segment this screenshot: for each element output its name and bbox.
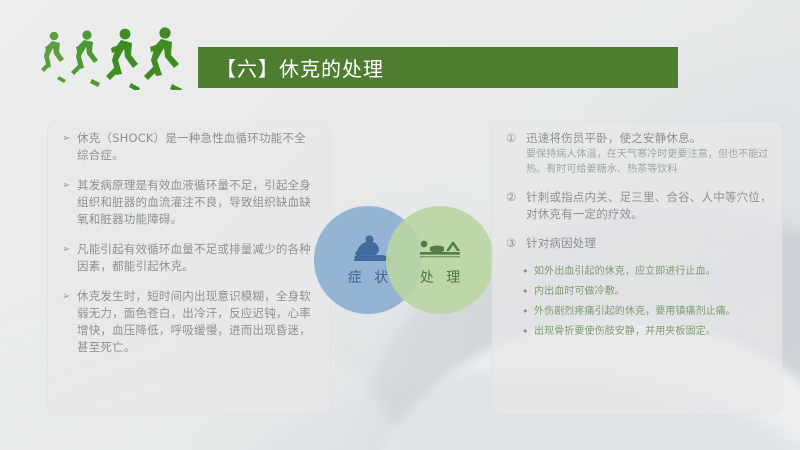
bullet-text: 休克（SHOCK）是一种急性血循环功能不全综合症。 bbox=[77, 130, 316, 164]
step-number: ③ bbox=[506, 235, 526, 252]
treatment-step-list: ① 迅速将伤员平卧，使之安静休息。 要保持病人体温，在天气寒冷时更要注意，但也不… bbox=[502, 130, 774, 339]
crouching-person-icon bbox=[345, 234, 391, 264]
cause-handling-sublist: • 如外出血引起的休克，应立即进行止血。 • 内出血时可做冷敷。 • 外伤剧烈疼… bbox=[502, 264, 774, 339]
sub-bullet-text: 内出血时可做冷敷。 bbox=[534, 284, 774, 299]
step-title: 迅速将伤员平卧，使之安静休息。 bbox=[526, 130, 772, 147]
arrow-bullet-icon: ➢ bbox=[62, 177, 77, 194]
list-item: • 出现骨折要使伤肢安静，并用夹板固定。 bbox=[502, 324, 774, 339]
bullet-text: 凡能引起有效循环血量不足或排量减少的各种因素，都能引起休克。 bbox=[77, 241, 316, 275]
list-item: ➢ 休克（SHOCK）是一种急性血循环功能不全综合症。 bbox=[56, 130, 320, 164]
page-title: 【六】休克的处理 bbox=[198, 53, 384, 82]
step-title: 针刺或指点内关、足三里、合谷、人中等穴位，对休克有一定的疗效。 bbox=[526, 189, 772, 223]
step-body: 迅速将伤员平卧，使之安静休息。 要保持病人体温，在天气寒冷时更要注意，但也不能过… bbox=[526, 130, 772, 177]
sub-bullet-text: 如外出血引起的休克，应立即进行止血。 bbox=[534, 264, 774, 279]
list-item: • 外伤剧烈疼痛引起的休克，要用镇痛剂止痛。 bbox=[502, 304, 774, 319]
sub-bullet-text: 出现骨折要使伤肢安静，并用夹板固定。 bbox=[534, 324, 774, 339]
dot-bullet-icon: • bbox=[522, 284, 534, 299]
list-item: ➢ 休克发生时，短时间内出现意识模糊，全身软弱无力，面色苍白，出冷汗，反应迟钝，… bbox=[56, 288, 320, 356]
dot-bullet-icon: • bbox=[522, 304, 534, 319]
sub-bullet-text: 外伤剧烈疼痛引起的休克，要用镇痛剂止痛。 bbox=[534, 304, 774, 319]
venn-label-treatment: 处 理 bbox=[416, 267, 464, 287]
venn-label-symptoms: 症 状 bbox=[344, 267, 392, 287]
dot-bullet-icon: • bbox=[522, 324, 534, 339]
venn-diagram: 症 状 处 理 bbox=[314, 206, 494, 314]
list-item: ➢ 凡能引起有效循环血量不足或排量减少的各种因素，都能引起休克。 bbox=[56, 241, 320, 275]
list-item: • 如外出血引起的休克，应立即进行止血。 bbox=[502, 264, 774, 279]
step-note: 要保持病人体温，在天气寒冷时更要注意，但也不能过热。有时可给姜糖水、热茶等饮料 bbox=[526, 148, 772, 177]
list-item: ② 针刺或指点内关、足三里、合谷、人中等穴位，对休克有一定的疗效。 bbox=[502, 189, 774, 223]
slide-canvas: 【六】休克的处理 ➢ 休克（SHOCK）是一种急性血循环功能不全综合症。 ➢ 其… bbox=[0, 0, 800, 450]
step-body: 针刺或指点内关、足三里、合谷、人中等穴位，对休克有一定的疗效。 bbox=[526, 189, 772, 223]
list-item: ① 迅速将伤员平卧，使之安静休息。 要保持病人体温，在天气寒冷时更要注意，但也不… bbox=[502, 130, 774, 177]
arrow-bullet-icon: ➢ bbox=[62, 130, 77, 147]
venn-circle-treatment[interactable]: 处 理 bbox=[386, 206, 494, 314]
step-number: ① bbox=[506, 130, 526, 147]
definition-bullet-list: ➢ 休克（SHOCK）是一种急性血循环功能不全综合症。 ➢ 其发病原理是有效血液… bbox=[56, 130, 320, 356]
step-body: 针对病因处理 bbox=[526, 235, 772, 252]
list-item: ③ 针对病因处理 bbox=[502, 235, 774, 252]
step-title: 针对病因处理 bbox=[526, 235, 772, 252]
list-item: ➢ 其发病原理是有效血液循环量不足，引起全身组织和脏器的血流灌注不良，导致组织缺… bbox=[56, 177, 320, 228]
slide-title-banner: 【六】休克的处理 bbox=[198, 47, 678, 88]
person-lying-on-bed-icon bbox=[417, 234, 463, 264]
definition-panel: ➢ 休克（SHOCK）是一种急性血循环功能不全综合症。 ➢ 其发病原理是有效血液… bbox=[48, 122, 330, 414]
bullet-text: 休克发生时，短时间内出现意识模糊，全身软弱无力，面色苍白，出冷汗，反应迟钝，心率… bbox=[77, 288, 316, 356]
dot-bullet-icon: • bbox=[522, 264, 534, 279]
bullet-text: 其发病原理是有效血液循环量不足，引起全身组织和脏器的血流灌注不良，导致组织缺血缺… bbox=[77, 177, 316, 228]
step-number: ② bbox=[506, 189, 526, 206]
running-figures-icon bbox=[32, 26, 192, 90]
treatment-panel: ① 迅速将伤员平卧，使之安静休息。 要保持病人体温，在天气寒冷时更要注意，但也不… bbox=[492, 122, 782, 414]
list-item: • 内出血时可做冷敷。 bbox=[502, 284, 774, 299]
arrow-bullet-icon: ➢ bbox=[62, 288, 77, 305]
arrow-bullet-icon: ➢ bbox=[62, 241, 77, 258]
